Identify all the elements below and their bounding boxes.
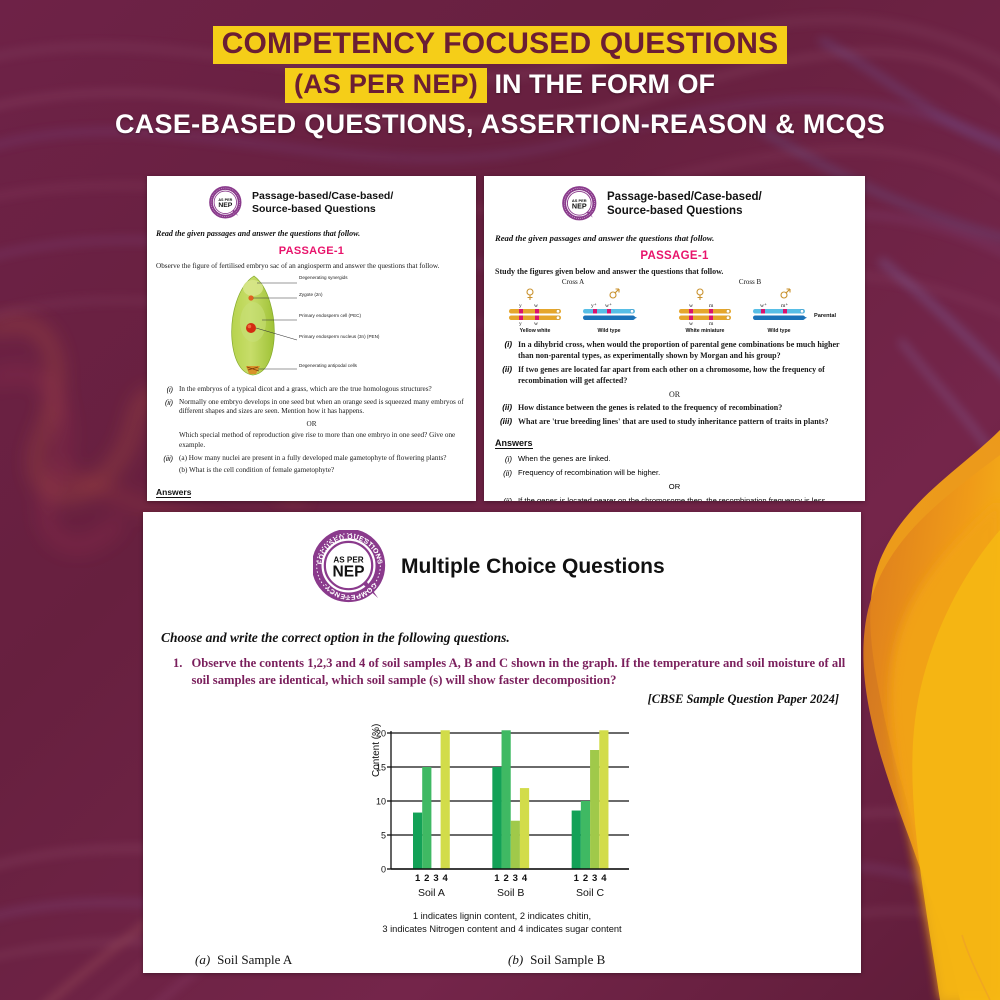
mcq-card: FOCUSED QUESTIONS COMPETENCY- AS PER NEP… — [143, 512, 861, 973]
option-label: Soil Sample A — [217, 952, 292, 968]
cross-b-male: w⁺m⁺ Wild type Parental — [753, 302, 837, 334]
question-text: Normally one embryo develops in one seed… — [179, 398, 467, 417]
question-num: (ii) — [495, 402, 512, 413]
mcq-options: (a) Soil Sample A (b) Soil Sample B (c) … — [143, 952, 861, 973]
passage-card-left: AS PER NEP Passage-based/Case-based/ Sou… — [147, 176, 476, 501]
question-item: (iii) What are 'true breeding lines' tha… — [495, 416, 854, 427]
question-num: (iii) — [495, 416, 512, 427]
answer-text: If the genes is located nearer on the ch… — [518, 496, 827, 501]
question-text: (b) What is the cell condition of female… — [179, 466, 334, 476]
chart-svg: 051015201234Soil A1234Soil B1234Soil C — [143, 717, 861, 902]
question-text: In the embryos of a typical dicot and a … — [179, 385, 432, 395]
mcq-question-number: 1. — [173, 655, 182, 689]
or-separator: OR — [495, 390, 854, 399]
chart-group-label: Soil C — [576, 887, 604, 899]
card-left-questions: (i) In the embryos of a typical dicot an… — [156, 385, 467, 476]
question-item: (ii) If two genes are located far apart … — [495, 364, 854, 386]
mcq-instruction: Choose and write the correct option in t… — [161, 630, 861, 646]
cross-a-male: y⁺w⁺ Wild type — [583, 302, 637, 334]
answer-item: (ii) Frequency of recombination will be … — [495, 468, 854, 479]
question-num: (i) — [495, 339, 512, 350]
answer-item: (ii) If the genes is located nearer on t… — [495, 496, 854, 501]
mcq-option-b[interactable]: (b) Soil Sample B — [508, 952, 821, 968]
chart-bar — [581, 801, 590, 869]
svg-text:NEP: NEP — [333, 564, 365, 581]
svg-text:w: w — [534, 303, 539, 309]
cross-a-label: Cross A — [562, 278, 584, 286]
title-line-3: CASE-BASED QUESTIONS, ASSERTION-REASON &… — [0, 109, 1000, 140]
option-label: Soil Sample B — [530, 952, 605, 968]
chart-caption-l2: 3 indicates Nitrogen content and 4 indic… — [143, 923, 861, 936]
chart-y-axis-title: Content (%) — [371, 723, 382, 776]
cross-b-label: Cross B — [739, 278, 762, 286]
chart-bar — [590, 750, 599, 869]
svg-text:Yellow white: Yellow white — [520, 328, 551, 334]
chart-group-label: Soil B — [497, 887, 524, 899]
question-item: (ii) How distance between the genes is r… — [495, 402, 854, 413]
chart-bar — [572, 810, 581, 868]
question-item: (i) In the embryos of a typical dicot an… — [156, 385, 467, 395]
chart-x-tick: 1 — [574, 873, 580, 884]
svg-text:m: m — [709, 303, 714, 309]
chart-bar — [520, 788, 529, 869]
svg-text:Wild type: Wild type — [767, 328, 790, 334]
parental-label: Parental — [814, 313, 837, 319]
card-left-title: Passage-based/Case-based/ Source-based Q… — [252, 190, 393, 216]
question-text: Which special method of reproduction giv… — [179, 431, 467, 450]
mcq-title: Multiple Choice Questions — [401, 555, 665, 579]
svg-text:NEP: NEP — [218, 202, 232, 209]
chart-x-tick: 1 — [415, 873, 421, 884]
svg-text:White miniature: White miniature — [686, 328, 725, 334]
question-text: What are 'true breeding lines' that are … — [518, 416, 828, 427]
nep-badge-icon: FOCUSED QUESTIONS COMPETENCY- AS PER NEP — [313, 530, 387, 604]
figure-label-2: Primary endosperm cell (PEC) — [299, 313, 361, 319]
nep-badge-icon: AS PER NEP — [209, 186, 243, 220]
svg-text:y⁺: y⁺ — [591, 302, 597, 309]
mcq-question: 1. Observe the contents 1,2,3 and 4 of s… — [173, 655, 861, 689]
chart-x-tick: 4 — [601, 873, 607, 884]
card-left-answers-heading: Answers — [156, 487, 191, 498]
answer-num: (i) — [495, 454, 512, 465]
title-line-2-plain: IN THE FORM OF — [487, 69, 715, 99]
genetics-cross-svg: Cross A Cross B — [495, 276, 854, 336]
chart-x-tick: 2 — [503, 873, 508, 884]
chart-caption-l1: 1 indicates lignin content, 2 indicates … — [143, 910, 861, 923]
question-item: (i) In a dihybrid cross, when would the … — [495, 339, 854, 361]
question-num: (iii) — [156, 454, 173, 464]
page-header: COMPETENCY FOCUSED QUESTIONS (AS PER NEP… — [0, 26, 1000, 140]
card-right-passage-label: PASSAGE-1 — [495, 250, 854, 262]
title-line-1-highlight: COMPETENCY FOCUSED QUESTIONS — [213, 26, 788, 64]
card-right-answers: (i) When the genes are linked. (ii) Freq… — [495, 454, 854, 501]
mcq-question-text: Observe the contents 1,2,3 and 4 of soil… — [191, 655, 861, 689]
chart-x-tick: 3 — [592, 873, 597, 884]
chart-bar — [492, 767, 501, 869]
genetics-cross-figure: Cross A Cross B — [495, 276, 854, 336]
question-item: (iii) (a) How many nuclei are present in… — [156, 454, 467, 464]
card-right-header: AS PER NEP Passage-based/Case-based/ Sou… — [484, 176, 865, 222]
figure-label-1: Zygote (2n) — [299, 292, 323, 298]
question-item: (ii) Normally one embryo develops in one… — [156, 398, 467, 417]
question-item: Which special method of reproduction giv… — [156, 431, 467, 450]
card-left-title-l1: Passage-based/Case-based/ — [252, 190, 393, 203]
svg-text:w⁺: w⁺ — [760, 302, 767, 309]
chart-bar — [502, 730, 511, 869]
svg-text:w: w — [689, 321, 694, 327]
card-right-title: Passage-based/Case-based/ Source-based Q… — [607, 190, 762, 218]
question-text: In a dihybrid cross, when would the prop… — [518, 339, 854, 361]
svg-text:NEP: NEP — [572, 201, 587, 210]
card-right-instruction: Read the given passages and answer the q… — [495, 233, 854, 243]
answer-text: Frequency of recombination will be highe… — [518, 468, 660, 478]
chart-group-label: Soil A — [418, 887, 445, 899]
card-right-questions: (i) In a dihybrid cross, when would the … — [495, 339, 854, 427]
svg-text:w⁺: w⁺ — [605, 302, 612, 309]
card-right-answers-heading: Answers — [495, 438, 533, 449]
svg-text:w: w — [689, 303, 694, 309]
svg-text:AS PER: AS PER — [218, 198, 232, 202]
chart-x-tick: 2 — [424, 873, 429, 884]
question-num: (i) — [156, 385, 173, 395]
chart-x-tick: 3 — [433, 873, 438, 884]
chart-bar — [511, 820, 520, 868]
answer-text: When the genes are linked. — [518, 454, 610, 464]
card-left-passage-label: PASSAGE-1 — [156, 245, 467, 257]
svg-text:y: y — [519, 303, 522, 309]
chart-bar — [422, 767, 431, 869]
nep-badge-icon: AS PER NEP — [562, 186, 598, 222]
question-text: (a) How many nuclei are present in a ful… — [179, 454, 446, 464]
question-text: How distance between the genes is relate… — [518, 402, 782, 413]
chart-x-tick: 3 — [513, 873, 518, 884]
question-text: If two genes are located far apart from … — [518, 364, 854, 386]
chart-bar — [441, 730, 450, 869]
svg-text:m⁺: m⁺ — [781, 302, 788, 309]
answer-num: (ii) — [495, 496, 512, 501]
svg-text:y: y — [519, 321, 522, 327]
or-separator: OR — [156, 420, 467, 428]
question-num: (ii) — [156, 398, 173, 408]
title-line-1: COMPETENCY FOCUSED QUESTIONS — [0, 26, 1000, 64]
option-key: (b) — [508, 952, 523, 968]
chart-y-tick: 10 — [376, 796, 386, 806]
card-left-intro: Observe the figure of fertilised embryo … — [156, 262, 467, 270]
mcq-source-reference: [CBSE Sample Question Paper 2024] — [143, 692, 861, 707]
figure-label-3: Primary endosperm nucleus (3n) (PEN) — [299, 334, 379, 340]
svg-text:Wild type: Wild type — [597, 328, 620, 334]
passage-card-right: AS PER NEP Passage-based/Case-based/ Sou… — [484, 176, 865, 501]
question-item: (b) What is the cell condition of female… — [156, 466, 467, 476]
card-right-intro: Study the figures given below and answer… — [495, 267, 854, 276]
soil-content-chart: Content (%) 051015201234Soil A1234Soil B… — [143, 717, 861, 902]
card-right-title-l1: Passage-based/Case-based/ — [607, 190, 762, 204]
or-separator: OR — [495, 482, 854, 492]
question-num: (ii) — [495, 364, 512, 375]
card-left-instruction: Read the given passages and answer the q… — [156, 229, 467, 238]
chart-x-tick: 4 — [522, 873, 528, 884]
chart-x-tick: 2 — [583, 873, 588, 884]
figure-label-0: Degenerating synergids — [299, 275, 348, 281]
chart-x-tick: 1 — [494, 873, 500, 884]
title-nep-highlight: (AS PER NEP) — [285, 68, 487, 103]
chart-y-tick: 0 — [381, 864, 386, 874]
title-line-2: (AS PER NEP) IN THE FORM OF — [0, 68, 1000, 103]
svg-text:w: w — [534, 321, 539, 327]
chart-caption: 1 indicates lignin content, 2 indicates … — [143, 910, 861, 937]
answer-num: (ii) — [495, 468, 512, 479]
figure-label-4: Degenerating antipodal cells — [299, 363, 357, 369]
svg-text:m: m — [709, 321, 714, 327]
answer-item: (i) When the genes are linked. — [495, 454, 854, 465]
cross-b-female: wm wm White miniature — [679, 303, 731, 334]
chart-x-tick: 4 — [443, 873, 449, 884]
option-key: (a) — [195, 952, 210, 968]
cross-a-female: yw yw Yellow white — [509, 303, 561, 334]
card-left-header: AS PER NEP Passage-based/Case-based/ Sou… — [147, 176, 476, 220]
mcq-option-a[interactable]: (a) Soil Sample A — [195, 952, 508, 968]
mcq-header: FOCUSED QUESTIONS COMPETENCY- AS PER NEP… — [143, 512, 861, 604]
chart-y-tick: 5 — [381, 830, 386, 840]
chart-bar — [599, 730, 608, 869]
embryo-sac-figure: Degenerating synergids Zygote (2n) Prima… — [156, 270, 467, 382]
card-right-title-l2: Source-based Questions — [607, 204, 762, 218]
card-left-title-l2: Source-based Questions — [252, 203, 393, 216]
chart-bar — [413, 812, 422, 868]
